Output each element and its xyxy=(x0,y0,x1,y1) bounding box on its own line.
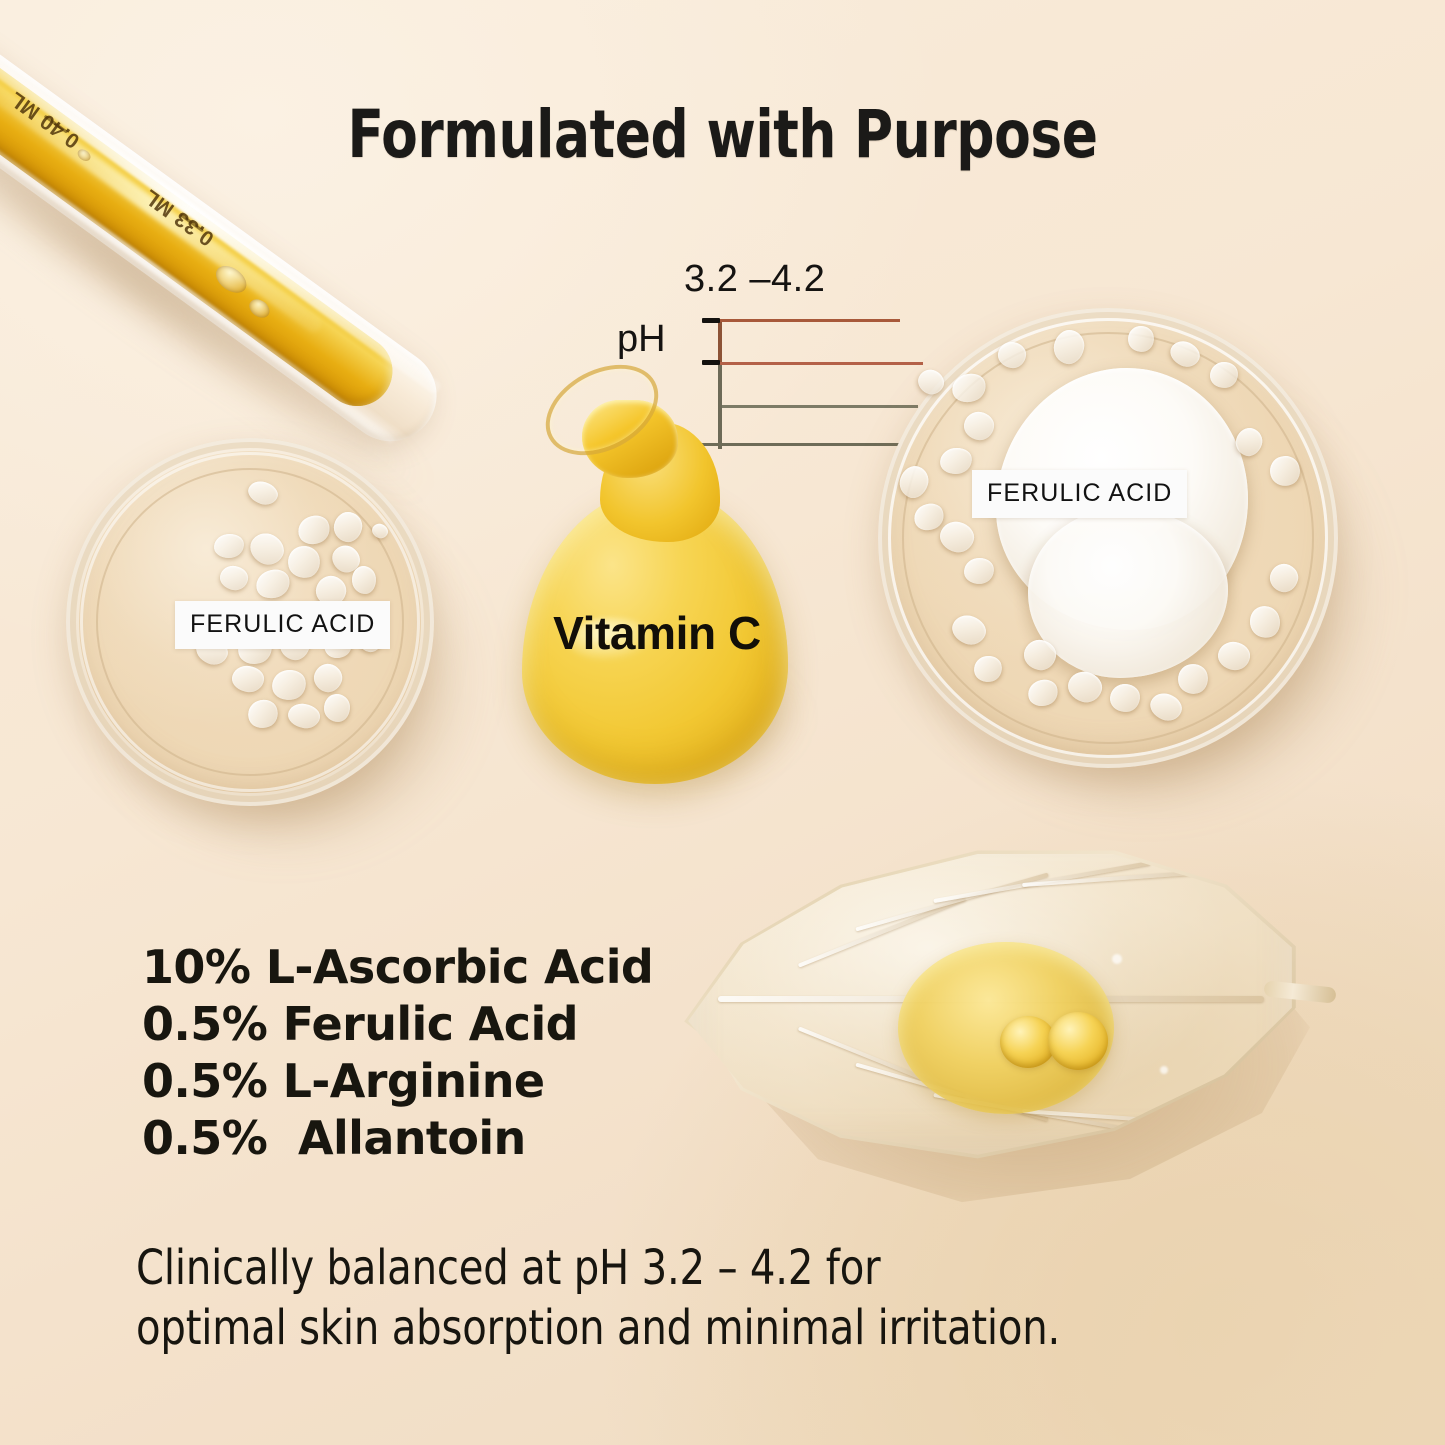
ingredient-item-3: 0.5% L-Arginine xyxy=(142,1058,653,1105)
ingredient-list: 10% L-Ascorbic Acid 0.5% Ferulic Acid 0.… xyxy=(142,944,653,1172)
product-infographic: 0.40 ML 0.33 ML Formulated with Purpose … xyxy=(0,0,1445,1445)
label-ferulic-acid-right: FERULIC ACID xyxy=(972,470,1187,518)
ph-tick-1 xyxy=(702,318,720,323)
label-ferulic-acid-left: FERULIC ACID xyxy=(175,601,390,649)
ph-vertical-connector-red xyxy=(718,319,722,365)
ph-tick-2 xyxy=(702,360,720,365)
label-vitamin-c: Vitamin C xyxy=(526,606,788,660)
leaf-vein xyxy=(855,873,1048,932)
ph-line-1 xyxy=(718,319,900,322)
serum-bubble-large xyxy=(1048,1012,1108,1070)
ingredient-item-4: 0.5% Allantoin xyxy=(142,1115,653,1162)
ph-line-2 xyxy=(718,362,923,365)
caption-line-2: optimal skin absorption and minimal irri… xyxy=(136,1298,1233,1358)
petri-dish-right xyxy=(878,308,1338,768)
page-title: Formulated with Purpose xyxy=(72,96,1373,173)
ph-range-label: 3.2 –4.2 xyxy=(684,258,825,301)
caption-line-1: Clinically balanced at pH 3.2 – 4.2 for xyxy=(136,1238,1233,1298)
ingredient-item-1: 10% L-Ascorbic Acid xyxy=(142,944,653,991)
leaf-glass-dish-group xyxy=(660,812,1350,1232)
glass-sparkle xyxy=(1160,1066,1168,1074)
ph-axis-label: pH xyxy=(617,318,666,361)
glass-sparkle xyxy=(1112,954,1122,964)
vitamin-c-droplet-group: Vitamin C xyxy=(508,406,828,796)
ingredient-item-2: 0.5% Ferulic Acid xyxy=(142,1001,653,1048)
caption-block: Clinically balanced at pH 3.2 – 4.2 for … xyxy=(136,1238,1233,1359)
